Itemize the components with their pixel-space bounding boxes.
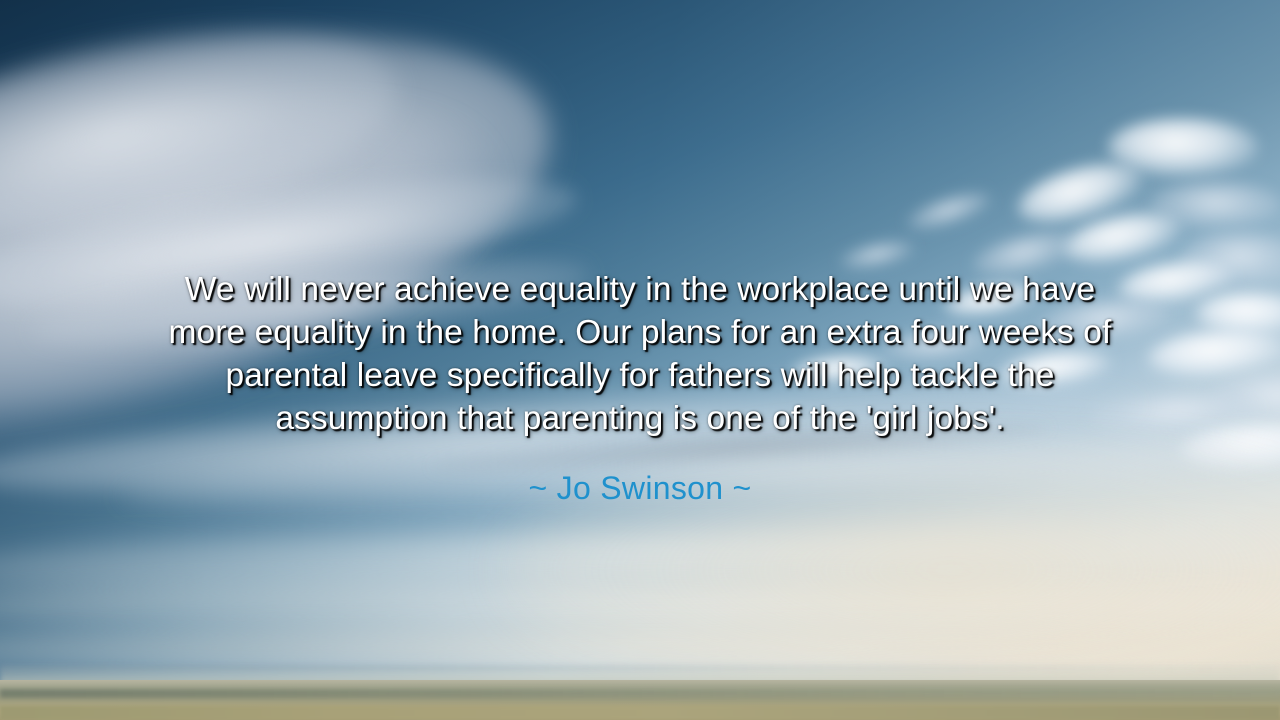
ground-foreground-strip (0, 706, 1280, 720)
cloud-puff-mid-1 (904, 185, 994, 236)
quote-text: We will never achieve equality in the wo… (96, 268, 1184, 440)
cloud-bank-left-highlight (0, 0, 412, 264)
quote-attribution: ~ Jo Swinson ~ (0, 469, 1280, 507)
quote-block: We will never achieve equality in the wo… (0, 268, 1280, 440)
quote-image-canvas: We will never achieve equality in the wo… (0, 0, 1280, 720)
ground-treeline (0, 689, 1280, 698)
